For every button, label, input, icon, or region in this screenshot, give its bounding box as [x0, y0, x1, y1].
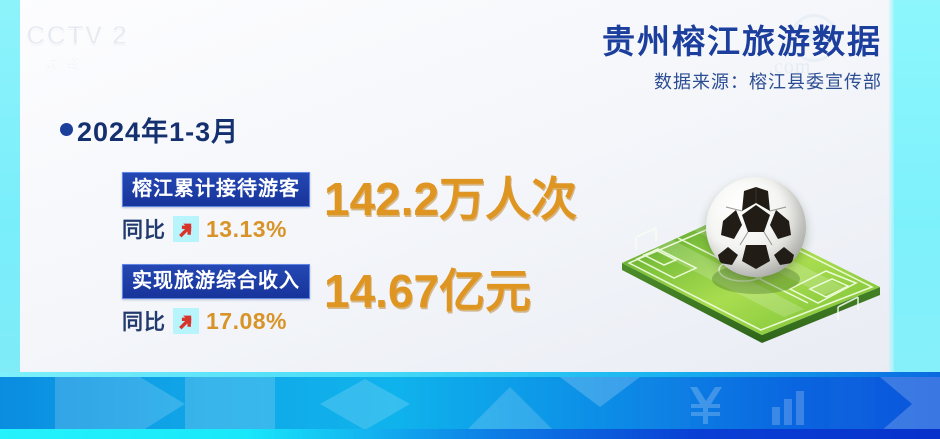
stat-badge: 榕江累计接待游客: [122, 172, 310, 207]
bullet-icon: [60, 123, 73, 136]
bottom-decorative-band: [0, 372, 940, 439]
period-line: 2024年1-3月: [60, 110, 239, 149]
period-label: 2024年1-3月: [77, 110, 239, 149]
yoy-label: 同比: [122, 306, 166, 336]
left-edge-bezel: [0, 0, 20, 372]
stat-value: 14.67亿元: [324, 264, 531, 318]
page-title: 贵州榕江旅游数据: [602, 20, 882, 64]
stat-block-revenue: 实现旅游综合收入 同比 17.08% 14.67亿元: [122, 264, 531, 336]
channel-subtitle: 财经: [46, 54, 156, 70]
stat-value: 142.2万人次: [324, 172, 577, 226]
stat-left: 榕江累计接待游客 同比 13.13%: [122, 172, 310, 244]
bar-chart-icon: [772, 391, 804, 425]
stat-badge: 实现旅游综合收入: [122, 264, 310, 299]
soccer-field-illustration: [612, 175, 902, 355]
yoy-value: 17.08%: [206, 308, 287, 335]
broadcast-graphic: CCTV 2 财经 .com 贵州榕江旅游数据 数据来源：榕江县委宣传部 202…: [0, 0, 940, 439]
band-pattern: [0, 377, 940, 432]
band-bottom-highlight: [0, 429, 940, 439]
soccer-ball-icon: [706, 177, 806, 277]
arrow-up-right-icon: [173, 216, 199, 242]
yoy-row: 同比 13.13%: [122, 214, 310, 244]
band-top-highlight: [0, 372, 940, 377]
arrow-up-right-icon: [173, 308, 199, 334]
stat-left: 实现旅游综合收入 同比 17.08%: [122, 264, 310, 336]
header: 贵州榕江旅游数据 数据来源：榕江县委宣传部: [602, 20, 882, 95]
cctv-wordmark: CCTV 2: [26, 18, 156, 52]
yoy-value: 13.13%: [206, 216, 287, 243]
stat-block-visitors: 榕江累计接待游客 同比 13.13% 142.2万人次: [122, 172, 577, 244]
channel-number: 2: [112, 20, 128, 50]
data-source-subtitle: 数据来源：榕江县委宣传部: [602, 69, 882, 95]
yoy-row: 同比 17.08%: [122, 306, 310, 336]
cctv2-channel-logo: CCTV 2 财经: [26, 18, 156, 84]
yen-symbol-icon: [690, 387, 722, 424]
yoy-label: 同比: [122, 214, 166, 244]
